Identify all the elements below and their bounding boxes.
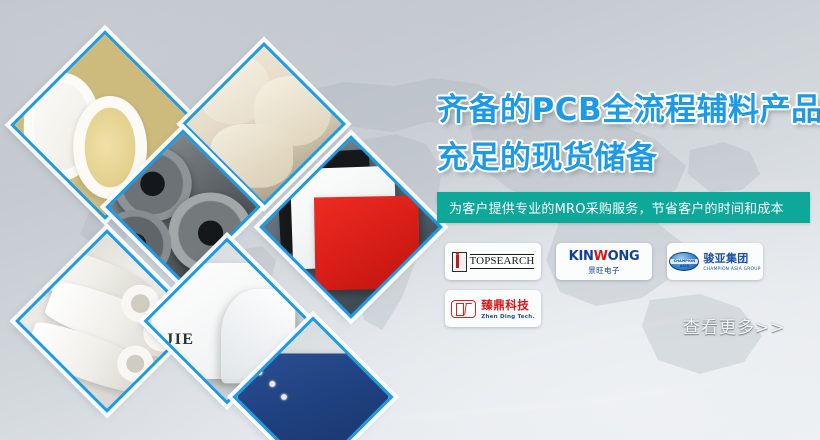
- kinwong-label-cn: 景旺电子: [569, 267, 640, 275]
- zhen-ding-mark-icon: [451, 300, 476, 318]
- product-image-collage: JIE: [0, 0, 430, 440]
- headline-line-1: 齐备的PCB全流程辅料产品、: [437, 86, 820, 134]
- partner-logo-kinwong[interactable]: KINWONG 景旺电子: [556, 243, 652, 280]
- subtitle-text: 为客户提供专业的MRO采购服务，节省客户的时间和成本: [437, 198, 784, 217]
- champion-asia-label-en: CHAMPION ASIA GROUP: [703, 268, 760, 272]
- partner-logo-zhen-ding[interactable]: 臻鼎科技 Zhen Ding Tech.: [445, 290, 541, 327]
- banner-content: 齐备的PCB全流程辅料产品、 充足的现货储备 为客户提供专业的MRO采购服务，节…: [437, 0, 820, 440]
- headline: 齐备的PCB全流程辅料产品、 充足的现货储备: [437, 86, 820, 182]
- partner-logo-topsearch[interactable]: TOPSEARCH: [445, 243, 541, 280]
- kinwong-label: KINWONG: [569, 249, 640, 264]
- champion-asia-globe-label: CHAMPION ASIA: [670, 259, 698, 264]
- headline-line-2: 充足的现货储备: [437, 134, 820, 182]
- tile-watermark-text: JIE: [165, 331, 194, 348]
- hero-banner: JIE 齐备的PCB全流程辅料产品、 充足的现货储备 为客户提供专业的MRO采购…: [0, 0, 820, 440]
- topsearch-mark-icon: [452, 252, 467, 272]
- champion-asia-label-cn: 骏亚集团: [703, 252, 748, 265]
- partner-logo-row-1: TOPSEARCH KINWONG 景旺电子 CHAMPION ASIA: [445, 243, 820, 280]
- view-more-link[interactable]: 查看更多>>: [683, 313, 786, 338]
- partner-logo-champion-asia[interactable]: CHAMPION ASIA 骏亚集团 CHAMPION ASIA GROUP: [667, 243, 763, 280]
- topsearch-label: TOPSEARCH: [470, 254, 535, 269]
- subtitle-bar: 为客户提供专业的MRO采购服务，节省客户的时间和成本: [437, 192, 810, 223]
- champion-asia-globe-icon: CHAMPION ASIA: [669, 252, 699, 271]
- zhen-ding-label-cn: 臻鼎科技: [481, 298, 529, 312]
- zhen-ding-label-en: Zhen Ding Tech.: [481, 315, 535, 321]
